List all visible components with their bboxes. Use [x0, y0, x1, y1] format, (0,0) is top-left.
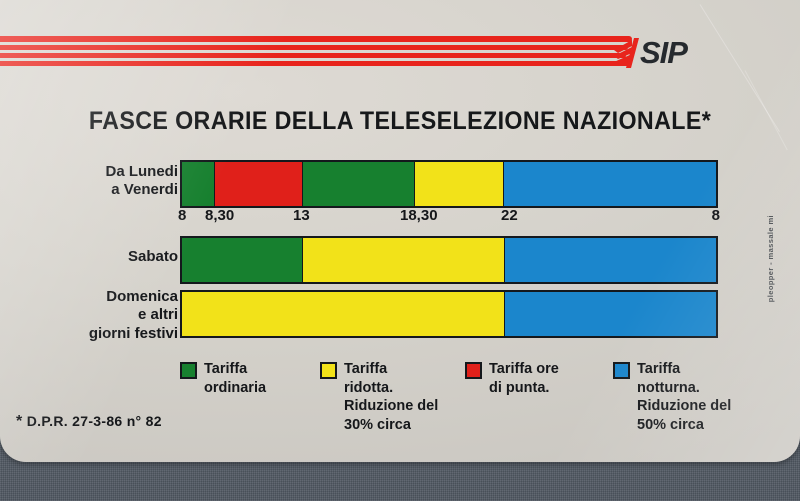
bar-sabato — [180, 236, 718, 284]
legend-item-notturna: Tariffa notturna. Riduzione del 50% circ… — [613, 360, 763, 434]
row-label-sabato: Sabato — [18, 248, 178, 266]
sip-logo-text: SIP — [640, 35, 687, 71]
sip-header-band: SIP — [0, 28, 800, 80]
legend-item-ridotta: Tariffa ridotta. Riduzione del 30% circa — [320, 360, 465, 434]
footnote-text: D.P.R. 27-3-86 n° 82 — [27, 413, 162, 429]
footnote: * D.P.R. 27-3-86 n° 82 — [16, 413, 162, 431]
axis-tick: 18,30 — [400, 207, 438, 224]
header-stripe-1 — [0, 36, 632, 42]
row-label-lunedi-venerdi: Da Lunedi a Venerdi — [18, 163, 178, 200]
segment-ridotta — [303, 238, 505, 282]
segment-notturna — [505, 292, 716, 336]
legend-label: Tariffa ore di punta. — [489, 360, 559, 397]
legend-swatch-yellow — [320, 362, 337, 379]
legend-swatch-red — [465, 362, 482, 379]
axis-tick: 8 — [712, 207, 720, 224]
page-title: FASCE ORARIE DELLA TELESELEZIONE NAZIONA… — [28, 107, 772, 136]
legend-label: Tariffa ordinaria — [204, 360, 266, 397]
bar-lunedi-venerdi — [180, 160, 718, 208]
header-stripe-3 — [0, 53, 626, 58]
legend-swatch-green — [180, 362, 197, 379]
legend-item-punta: Tariffa ore di punta. — [465, 360, 613, 434]
axis-tick: 8 — [178, 207, 186, 224]
segment-ordinaria — [182, 238, 303, 282]
sip-tariff-card: SIP FASCE ORARIE DELLA TELESELEZIONE NAZ… — [0, 0, 800, 462]
segment-ridotta — [182, 292, 505, 336]
legend-label: Tariffa notturna. Riduzione del 50% circ… — [637, 360, 731, 434]
header-stripe-4 — [0, 61, 630, 66]
header-stripe-2 — [0, 45, 628, 50]
legend-item-ordinaria: Tariffa ordinaria — [180, 360, 320, 434]
segment-ordinaria — [303, 162, 415, 206]
bar-domenica — [180, 290, 718, 338]
segment-ridotta — [415, 162, 505, 206]
segment-punta — [215, 162, 303, 206]
axis-tick: 22 — [501, 207, 518, 224]
segment-ordinaria — [182, 162, 215, 206]
segment-notturna — [504, 162, 715, 206]
legend-swatch-blue — [613, 362, 630, 379]
legend: Tariffa ordinaria Tariffa ridotta. Riduz… — [180, 360, 780, 434]
time-axis: 8 8,30 13 18,30 22 8 — [180, 207, 718, 229]
printer-credit: pleopper - massale mi — [766, 215, 775, 302]
row-label-domenica: Domenica e altri giorni festivi — [18, 288, 178, 343]
axis-tick: 13 — [293, 207, 310, 224]
legend-label: Tariffa ridotta. Riduzione del 30% circa — [344, 360, 438, 434]
screenshot-root: SIP FASCE ORARIE DELLA TELESELEZIONE NAZ… — [0, 0, 800, 501]
axis-tick: 8,30 — [205, 207, 234, 224]
footnote-asterisk: * — [16, 413, 23, 430]
segment-notturna — [505, 238, 716, 282]
